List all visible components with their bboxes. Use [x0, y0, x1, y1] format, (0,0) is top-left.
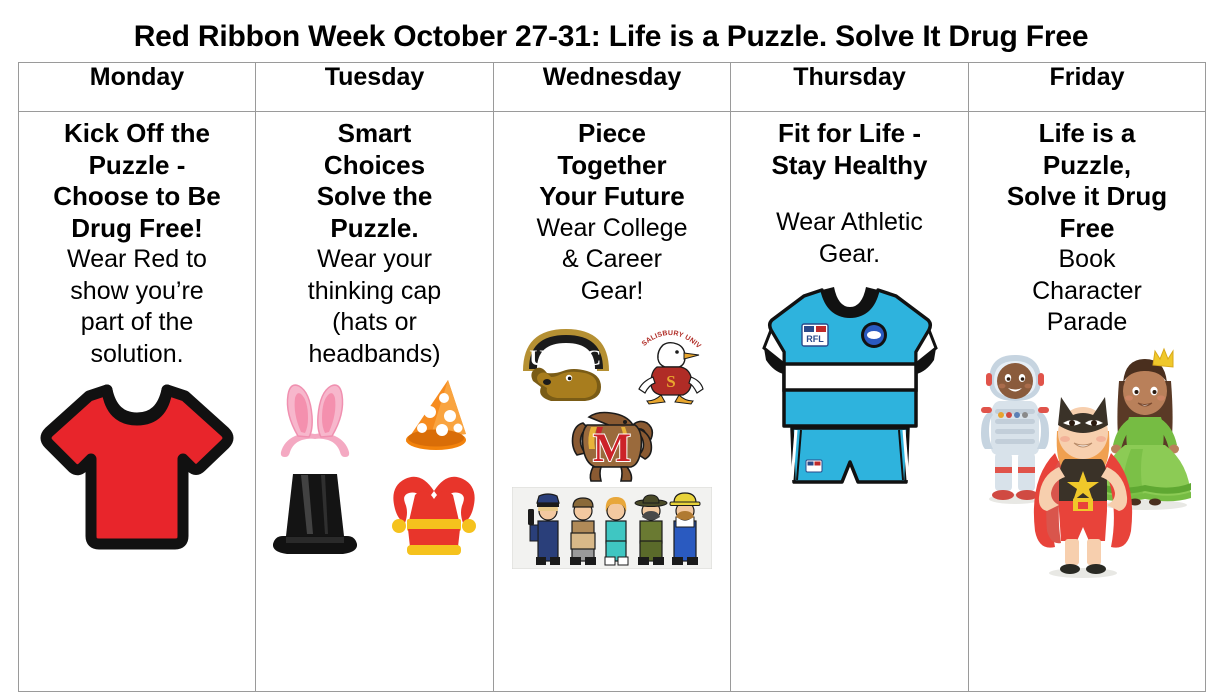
tuesday-headline-line-3: Solve the	[311, 181, 439, 213]
monday-headline-line-2: Puzzle -	[83, 150, 192, 182]
wednesday-subline-line-1: Wear College	[530, 213, 693, 245]
tuesday-subline-line-1: Wear your	[311, 244, 438, 276]
friday-headline-line-4: Free	[1054, 213, 1121, 245]
monday-subline-line-2: show you’re	[64, 276, 209, 308]
salisbury-letter-s: S	[666, 372, 675, 391]
red-ribbon-week-schedule-table: Monday Tuesday Wednesday Thursday Friday…	[18, 62, 1206, 692]
wednesday-subline-line-2: & Career	[556, 244, 668, 276]
wednesday-headline-line-2: Together	[551, 150, 672, 182]
day-header-monday: Monday	[19, 63, 256, 112]
day-cell-wednesday: Piece Together Your Future Wear College …	[494, 112, 731, 692]
friday-art	[969, 345, 1205, 692]
wednesday-headline-line-3: Your Future	[533, 181, 690, 213]
thursday-subline-line-1: Wear Athletic	[770, 207, 929, 239]
maryland-terrapins-logo-icon: M	[553, 409, 671, 485]
monday-art	[19, 376, 255, 691]
umbc-wordmark: UMBC	[529, 345, 602, 370]
day-header-thursday: Thursday	[731, 63, 969, 112]
friday-headline-line-1: Life is a	[1033, 118, 1142, 150]
career-workers-image	[512, 487, 712, 569]
tuesday-headline-line-4: Puzzle.	[324, 213, 424, 245]
party-hat-icon	[386, 376, 482, 462]
wednesday-art: UMBC	[494, 313, 730, 691]
bunny-ears-headband-icon	[263, 378, 367, 460]
worker-ranger	[635, 495, 667, 565]
monday-headline-line-1: Kick Off the	[58, 118, 216, 150]
monday-subline-line-3: part of the	[75, 307, 200, 339]
day-cell-thursday: Fit for Life - Stay Healthy Wear Athleti…	[731, 112, 969, 692]
tuesday-subline-line-2: thinking cap	[302, 276, 447, 308]
worker-delivery	[570, 498, 596, 565]
thursday-headline-line-2: Stay Healthy	[765, 150, 933, 182]
jester-hat-icon	[379, 465, 489, 557]
thursday-headline-line-1: Fit for Life -	[772, 118, 927, 150]
tuesday-subline-line-4: headbands)	[302, 339, 446, 371]
umbc-logo-icon: UMBC	[511, 315, 621, 407]
monday-subline-line-4: solution.	[84, 339, 189, 371]
red-tshirt-icon	[39, 376, 235, 556]
salisbury-university-logo-icon: SALISBURY UNIVERSITY S	[627, 315, 713, 407]
page-title: Red Ribbon Week October 27-31: Life is a…	[0, 20, 1222, 54]
wednesday-headline-line-1: Piece	[572, 118, 652, 150]
tuesday-art	[256, 376, 493, 691]
tuesday-subline-line-3: (hats or	[326, 307, 423, 339]
athletic-uniform-icon: RFL	[762, 276, 938, 518]
top-hat-icon	[265, 464, 365, 558]
svg-text:RFL: RFL	[806, 334, 824, 344]
maryland-letter-m: M	[593, 425, 631, 470]
friday-headline-line-3: Solve it Drug	[1001, 181, 1173, 213]
table-content-row: Kick Off the Puzzle - Choose to Be Drug …	[19, 112, 1206, 692]
thursday-art: RFL	[731, 276, 968, 691]
friday-subline-line-1: Book	[1053, 244, 1122, 276]
day-header-wednesday: Wednesday	[494, 63, 731, 112]
wednesday-subline-line-3: Gear!	[575, 276, 650, 308]
superhero-costume-icon	[1034, 397, 1132, 578]
day-cell-tuesday: Smart Choices Solve the Puzzle. Wear you…	[256, 112, 494, 692]
monday-subline-line-1: Wear Red to	[61, 244, 213, 276]
friday-headline-line-2: Puzzle,	[1037, 150, 1137, 182]
friday-subline-line-2: Character	[1026, 276, 1148, 308]
friday-subline-line-3: Parade	[1041, 307, 1134, 339]
book-characters-costumes-image	[973, 345, 1201, 585]
day-cell-monday: Kick Off the Puzzle - Choose to Be Drug …	[19, 112, 256, 692]
tuesday-headline-line-2: Choices	[318, 150, 431, 182]
worker-nurse	[605, 497, 628, 565]
table-header-row: Monday Tuesday Wednesday Thursday Friday	[19, 63, 1206, 112]
thursday-subline-line-2: Gear.	[813, 239, 886, 271]
day-cell-friday: Life is a Puzzle, Solve it Drug Free Boo…	[969, 112, 1206, 692]
monday-headline-line-3: Choose to Be	[47, 181, 227, 213]
day-header-tuesday: Tuesday	[256, 63, 494, 112]
worker-construction	[670, 493, 700, 565]
monday-headline-line-4: Drug Free!	[65, 213, 208, 245]
day-header-friday: Friday	[969, 63, 1206, 112]
tuesday-headline-line-1: Smart	[332, 118, 418, 150]
